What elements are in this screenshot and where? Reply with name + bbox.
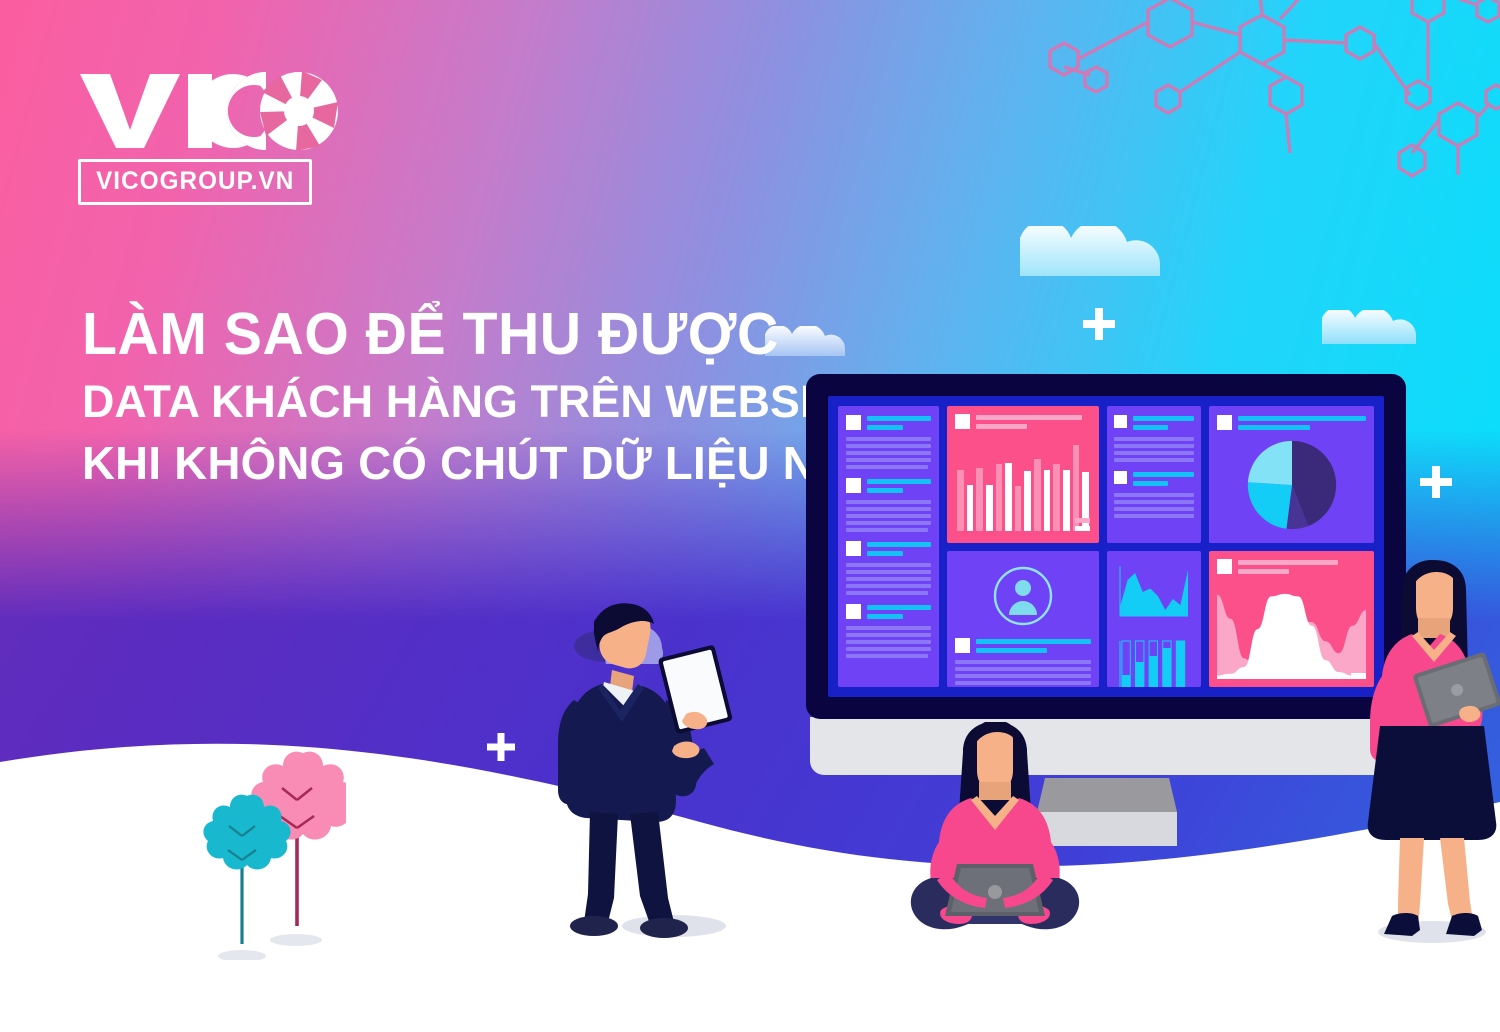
trend-chart-plot (1217, 593, 1366, 679)
pie-slice (1247, 482, 1291, 529)
cloud-large-icon (1020, 226, 1160, 276)
list-item[interactable] (846, 478, 931, 532)
plus-decoration-icon (1083, 308, 1115, 340)
bar-chart-bar (1024, 471, 1031, 531)
metrics-area-chart (1114, 560, 1194, 627)
woman-with-laptop (905, 722, 1085, 932)
list-item-icon (846, 604, 861, 619)
card-icon (1217, 415, 1232, 430)
list-item[interactable] (846, 415, 931, 469)
desktop-monitor (806, 374, 1406, 719)
logo-wordmark (78, 74, 348, 150)
list-item[interactable] (846, 604, 931, 658)
card-icon (955, 638, 970, 653)
logo-url-box: VICOGROUP.VN (78, 159, 312, 205)
headline-line-3: KHI KHÔNG CÓ CHÚT DỮ LIỆU NÀO (82, 440, 834, 486)
plant-cyan (203, 795, 290, 944)
bar-chart-plot (957, 439, 1089, 531)
metrics-progress-bars (1114, 635, 1194, 688)
progress-fill (1136, 662, 1144, 688)
list-item-icon (846, 541, 861, 556)
bar-chart-bar (967, 485, 974, 531)
notifications-list-card[interactable] (1107, 406, 1201, 543)
molecule-network-decoration-icon (1040, 0, 1500, 215)
businesswoman-with-tablet (1356, 560, 1500, 948)
progress-fill (1176, 641, 1184, 688)
bar-chart-legend (1075, 518, 1090, 531)
trend-chart-card[interactable] (1209, 551, 1374, 688)
metrics-card[interactable] (1107, 551, 1201, 688)
bar-chart-bar (957, 470, 964, 531)
progress-fill (1163, 648, 1171, 688)
list-item-icon (846, 415, 861, 430)
cloud-small-icon (1322, 310, 1416, 344)
activity-list-card[interactable] (838, 406, 939, 687)
list-item-icon (1114, 471, 1127, 484)
bar-chart-bar (1015, 486, 1022, 530)
bar-chart-bar (986, 485, 993, 531)
progress-fill (1122, 675, 1130, 688)
plus-decoration-icon (1420, 466, 1452, 498)
avatar (955, 565, 1091, 627)
pie-chart-plot (1209, 439, 1374, 531)
bar-chart-card[interactable] (947, 406, 1099, 543)
bar-chart-bar (976, 468, 983, 531)
logo-url-text: VICOGROUP.VN (96, 169, 294, 194)
user-avatar-icon (992, 565, 1054, 627)
businessman-with-tablet (546, 596, 736, 948)
pie-chart-card[interactable] (1209, 406, 1374, 543)
headline-line-2: DATA KHÁCH HÀNG TRÊN WEBSITE (82, 379, 838, 424)
card-icon (955, 414, 970, 429)
bar-chart-bar (996, 464, 1003, 530)
user-profile-card[interactable] (947, 551, 1099, 688)
brand-logo[interactable]: VICOGROUP.VN (78, 74, 348, 205)
pie-slice (1247, 440, 1291, 484)
plants-group (196, 728, 346, 960)
analytics-dashboard-screen[interactable] (828, 396, 1384, 697)
headline-block: LÀM SAO ĐỂ THU ĐƯỢC DATA KHÁCH HÀNG TRÊN… (82, 305, 842, 486)
banner-canvas: VICOGROUP.VN LÀM SAO ĐỂ THU ĐƯỢC DATA KH… (0, 0, 1500, 1032)
list-item[interactable] (1114, 471, 1194, 518)
monitor-chin (810, 717, 1402, 775)
bar-chart-bar (1063, 470, 1070, 531)
bar-chart-bar (1053, 464, 1060, 530)
progress-fill (1149, 656, 1157, 688)
bar-chart-bar (1005, 463, 1012, 530)
list-item-icon (846, 478, 861, 493)
bar-chart-bar (1044, 470, 1051, 531)
headline-line-1: LÀM SAO ĐỂ THU ĐƯỢC (82, 305, 819, 364)
card-icon (1217, 559, 1232, 574)
list-item-icon (1114, 415, 1127, 428)
list-item[interactable] (846, 541, 931, 595)
bar-chart-bar (1034, 459, 1041, 531)
area-series (1120, 570, 1188, 616)
vico-wordmark-icon (78, 72, 340, 150)
list-item[interactable] (1114, 415, 1194, 462)
